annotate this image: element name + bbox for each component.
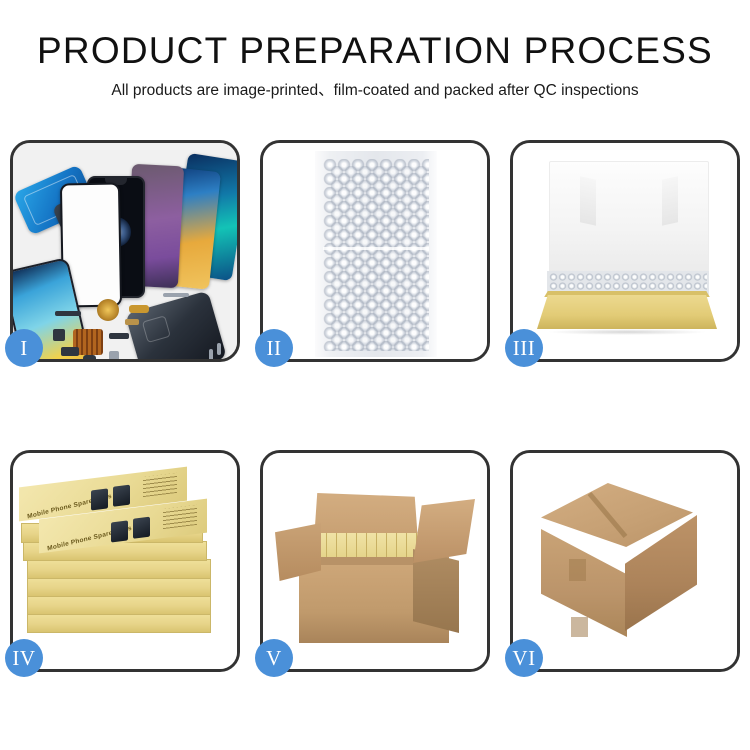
antenna-strip-part bbox=[109, 333, 129, 339]
lid-phone-graphic bbox=[111, 520, 128, 542]
step-panel-3: III bbox=[510, 140, 740, 362]
step-badge-6: VI bbox=[505, 639, 543, 677]
step-image-4: Mobile Phone Spare Parts Mobile Phone Sp… bbox=[13, 453, 237, 669]
box-stack: Mobile Phone Spare Parts Mobile Phone Sp… bbox=[13, 453, 237, 669]
step-badge-3: III bbox=[505, 329, 543, 367]
sim-tray-part bbox=[109, 351, 119, 359]
bubble-wrap-sheet bbox=[315, 151, 437, 357]
product-preparation-infographic: PRODUCT PREPARATION PROCESS All products… bbox=[0, 0, 750, 750]
step-panel-1: I bbox=[10, 140, 240, 362]
bubble-wrap-seam bbox=[323, 247, 429, 250]
step-image-5 bbox=[263, 453, 487, 669]
tan-clip-part bbox=[125, 319, 139, 325]
step-badge-1: I bbox=[5, 329, 43, 367]
stacked-box-layer bbox=[27, 613, 211, 633]
lid-spec-lines bbox=[143, 473, 177, 497]
step-badge-5: V bbox=[255, 639, 293, 677]
copper-coil-part bbox=[97, 299, 119, 321]
header: PRODUCT PREPARATION PROCESS All products… bbox=[0, 0, 750, 101]
step-panel-6: VI bbox=[510, 450, 740, 672]
lid-phone-graphic bbox=[133, 517, 150, 539]
stacked-box-layer bbox=[27, 577, 211, 597]
step-image-2 bbox=[263, 143, 487, 359]
screw-part bbox=[209, 349, 213, 359]
lid-flap-left bbox=[580, 176, 596, 225]
step-panel-2: II bbox=[260, 140, 490, 362]
step-image-3 bbox=[513, 143, 737, 359]
steps-grid: I II bbox=[10, 140, 740, 672]
step-badge-2: II bbox=[255, 329, 293, 367]
carton-tape-mark bbox=[569, 559, 586, 581]
screw-part bbox=[217, 343, 221, 355]
white-box-lid bbox=[549, 161, 709, 283]
box-shadow bbox=[547, 329, 707, 335]
page-subtitle: All products are image-printed、film-coat… bbox=[0, 81, 750, 101]
lid-phone-graphic bbox=[113, 485, 130, 507]
step-panel-4: Mobile Phone Spare Parts Mobile Phone Sp… bbox=[10, 450, 240, 672]
page-title: PRODUCT PREPARATION PROCESS bbox=[0, 30, 750, 72]
step-image-1 bbox=[13, 143, 237, 359]
step-badge-4: IV bbox=[5, 639, 43, 677]
yellow-box-front bbox=[537, 295, 717, 329]
carton-tape-mark bbox=[571, 617, 588, 637]
gold-bracket-part bbox=[129, 305, 149, 313]
lid-spec-lines bbox=[163, 505, 197, 529]
camera-module-part bbox=[53, 329, 65, 341]
stacked-box-layer bbox=[27, 595, 211, 615]
lid-phone-graphic bbox=[91, 488, 108, 510]
carton-right-flap bbox=[413, 499, 475, 563]
step-image-6 bbox=[513, 453, 737, 669]
flex-cable-part bbox=[55, 311, 81, 316]
bubble-wrap-texture-layer2 bbox=[330, 166, 429, 351]
carton-left-flap bbox=[275, 523, 321, 581]
vibrator-part bbox=[83, 355, 96, 359]
stacked-box-layer bbox=[27, 559, 211, 579]
tweezer-tool bbox=[163, 293, 189, 297]
step-panel-5: V bbox=[260, 450, 490, 672]
speaker-part bbox=[61, 347, 79, 356]
lid-flap-right bbox=[662, 176, 678, 225]
